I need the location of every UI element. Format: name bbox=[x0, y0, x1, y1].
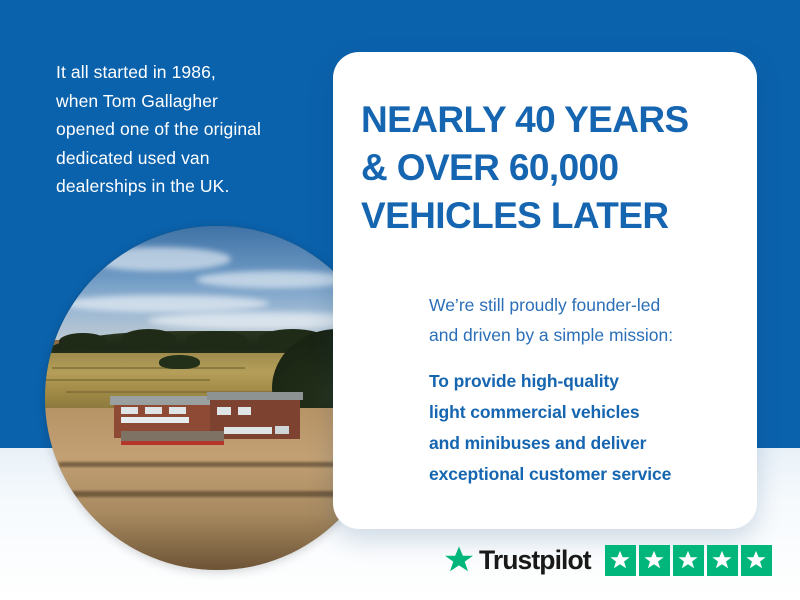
trustpilot-star-icon bbox=[444, 545, 474, 575]
rating-star-4 bbox=[707, 545, 738, 576]
intro-line-3: opened one of the original bbox=[56, 115, 322, 144]
mission-line-3: and minibuses and deliver bbox=[429, 428, 739, 459]
photo-row-shadow bbox=[52, 491, 368, 497]
photo-cloud bbox=[86, 247, 230, 271]
trustpilot-rating[interactable]: Trustpilot bbox=[444, 540, 772, 580]
intro-line-2: when Tom Gallagher bbox=[56, 87, 322, 116]
headline-line-3: VEHICLES LATER bbox=[361, 192, 733, 240]
photo-tree bbox=[59, 333, 107, 350]
rating-star-3 bbox=[673, 545, 704, 576]
photo-cloud bbox=[196, 271, 354, 288]
mission-statement: To provide high-quality light commercial… bbox=[429, 366, 739, 490]
photo-window bbox=[275, 426, 289, 434]
lede-paragraph: We’re still proudly founder-led and driv… bbox=[429, 290, 739, 350]
mission-line-2: light commercial vehicles bbox=[429, 397, 739, 428]
photo-window bbox=[224, 427, 272, 434]
photo-row-shadow bbox=[59, 462, 369, 468]
trustpilot-logo[interactable]: Trustpilot bbox=[444, 545, 591, 575]
intro-paragraph: It all started in 1986, when Tom Gallagh… bbox=[56, 58, 322, 201]
photo-canopy-edge bbox=[121, 441, 224, 445]
photo-field-line bbox=[45, 379, 210, 381]
headline-line-1: NEARLY 40 YEARS bbox=[361, 96, 733, 144]
rating-star-1 bbox=[605, 545, 636, 576]
intro-line-4: dedicated used van bbox=[56, 144, 322, 173]
lede-line-2: and driven by a simple mission: bbox=[429, 320, 739, 350]
lede-line-1: We’re still proudly founder-led bbox=[429, 290, 739, 320]
photo-window bbox=[217, 407, 231, 415]
mission-line-1: To provide high-quality bbox=[429, 366, 739, 397]
photo-roof-left bbox=[110, 396, 213, 405]
promo-banner: It all started in 1986, when Tom Gallagh… bbox=[0, 0, 800, 600]
photo-field-line bbox=[52, 367, 245, 369]
rating-star-5 bbox=[741, 545, 772, 576]
trustpilot-wordmark: Trustpilot bbox=[479, 547, 591, 574]
photo-roof-right bbox=[207, 392, 303, 400]
intro-line-5: dealerships in the UK. bbox=[56, 172, 322, 201]
headline-line-2: & OVER 60,000 bbox=[361, 144, 733, 192]
photo-window bbox=[121, 407, 138, 415]
content-card: NEARLY 40 YEARS & OVER 60,000 VEHICLES L… bbox=[333, 52, 757, 529]
photo-window bbox=[145, 407, 162, 415]
photo-window bbox=[169, 407, 186, 415]
photo-signboard bbox=[121, 417, 190, 423]
photo-tree bbox=[159, 355, 200, 369]
photo-window bbox=[238, 407, 252, 415]
photo-cloud bbox=[62, 295, 268, 312]
photo-tree bbox=[121, 329, 176, 350]
intro-line-1: It all started in 1986, bbox=[56, 58, 322, 87]
headline: NEARLY 40 YEARS & OVER 60,000 VEHICLES L… bbox=[361, 96, 733, 240]
mission-line-4: exceptional customer service bbox=[429, 459, 739, 490]
trustpilot-star-rating bbox=[605, 545, 772, 576]
photo-tree bbox=[186, 331, 248, 350]
rating-star-2 bbox=[639, 545, 670, 576]
